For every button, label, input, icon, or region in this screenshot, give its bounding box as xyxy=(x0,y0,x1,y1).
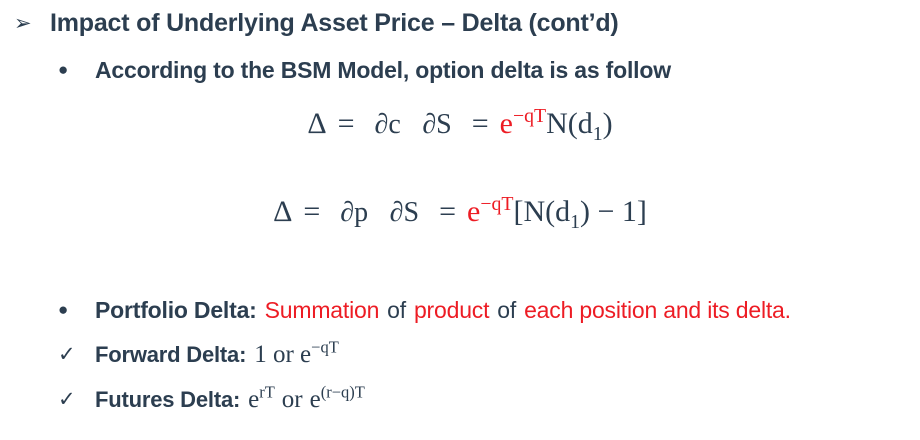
check-bullet-icon: ✓ xyxy=(58,389,95,410)
call-delta-tail-post: ) xyxy=(603,107,613,140)
bullet-forward-row: ✓ Forward Delta:1 or e−qT xyxy=(58,341,339,369)
bullet-portfolio-content: Portfolio Delta:Summationofproductofeach… xyxy=(95,297,791,324)
put-delta-denominator: ∂S xyxy=(383,197,426,228)
futures-base-second: e xyxy=(310,386,321,413)
round-bullet-icon: ● xyxy=(58,301,95,318)
put-delta-symbol: Δ xyxy=(273,197,292,227)
put-delta-equation: Δ = ∂p ∂S = e−qT[N(d1) − 1] xyxy=(0,196,920,228)
futures-delta-label: Futures Delta: xyxy=(95,387,240,412)
put-delta-exp-power: −qT xyxy=(480,193,513,215)
heading-row: ➢ Impact of Underlying Asset Price – Del… xyxy=(14,9,619,38)
put-delta-tail-sub: 1 xyxy=(570,211,580,233)
portfolio-delta-label: Portfolio Delta: xyxy=(95,297,257,323)
bullet-bsm-row: ● According to the BSM Model, option del… xyxy=(58,57,671,84)
slide-canvas: ➢ Impact of Underlying Asset Price – Del… xyxy=(0,0,920,440)
futures-conjunction: or xyxy=(282,386,303,413)
forward-delta-label: Forward Delta: xyxy=(95,342,246,367)
call-delta-exp-base: e xyxy=(500,107,513,140)
put-delta-rhs: e−qT[N(d1) − 1] xyxy=(467,197,647,227)
forward-delta-value-plain: 1 or e xyxy=(254,341,311,368)
bullet-futures-row: ✓ Futures Delta:erTore(r−q)T xyxy=(58,386,365,414)
put-delta-equals-2: = xyxy=(439,197,456,227)
futures-exponent-second: (r−q)T xyxy=(321,383,365,402)
put-delta-exp-base: e xyxy=(467,195,480,228)
call-delta-equals-1: = xyxy=(338,109,355,139)
call-delta-numerator: ∂c xyxy=(368,109,408,140)
forward-delta-value: 1 or e−qT xyxy=(254,341,339,368)
call-delta-exp-power: −qT xyxy=(513,105,546,127)
arrow-bullet-icon: ➢ xyxy=(14,13,50,34)
call-delta-denominator: ∂S xyxy=(415,109,458,140)
put-delta-tail-pre: [N(d xyxy=(513,195,570,228)
call-delta-symbol: Δ xyxy=(307,109,326,139)
check-bullet-icon: ✓ xyxy=(58,344,95,365)
bullet-bsm-label: According to the BSM Model, option delta… xyxy=(95,57,671,84)
forward-delta-exponent: −qT xyxy=(311,338,339,357)
bullet-portfolio-row: ● Portfolio Delta:Summationofproductofea… xyxy=(58,297,791,324)
put-delta-tail-post: ) − 1] xyxy=(580,195,647,228)
bullet-futures-content: Futures Delta:erTore(r−q)T xyxy=(95,386,365,414)
call-delta-fraction: ∂c ∂S xyxy=(368,108,459,140)
put-delta-fraction: ∂p ∂S xyxy=(333,196,426,228)
round-bullet-icon: ● xyxy=(58,61,95,78)
put-delta-numerator: ∂p xyxy=(333,197,375,228)
portfolio-seg-of-1: of xyxy=(387,297,406,323)
portfolio-seg-product: product xyxy=(414,297,489,323)
portfolio-seg-summation: Summation xyxy=(265,297,380,323)
call-delta-equals-2: = xyxy=(472,109,489,139)
call-delta-tail-pre: N(d xyxy=(546,107,593,140)
call-delta-rhs: e−qTN(d1) xyxy=(500,109,613,139)
bullet-forward-content: Forward Delta:1 or e−qT xyxy=(95,341,339,369)
futures-base-first: e xyxy=(248,386,259,413)
portfolio-seg-of-2: of xyxy=(497,297,516,323)
futures-delta-value: erTore(r−q)T xyxy=(248,386,365,413)
portfolio-seg-each-position: each position and its delta. xyxy=(524,297,791,323)
put-delta-equals-1: = xyxy=(303,197,320,227)
call-delta-equation: Δ = ∂c ∂S = e−qTN(d1) xyxy=(0,108,920,140)
call-delta-tail-sub: 1 xyxy=(593,123,603,145)
page-title: Impact of Underlying Asset Price – Delta… xyxy=(50,9,619,38)
futures-exponent-first: rT xyxy=(259,383,275,402)
